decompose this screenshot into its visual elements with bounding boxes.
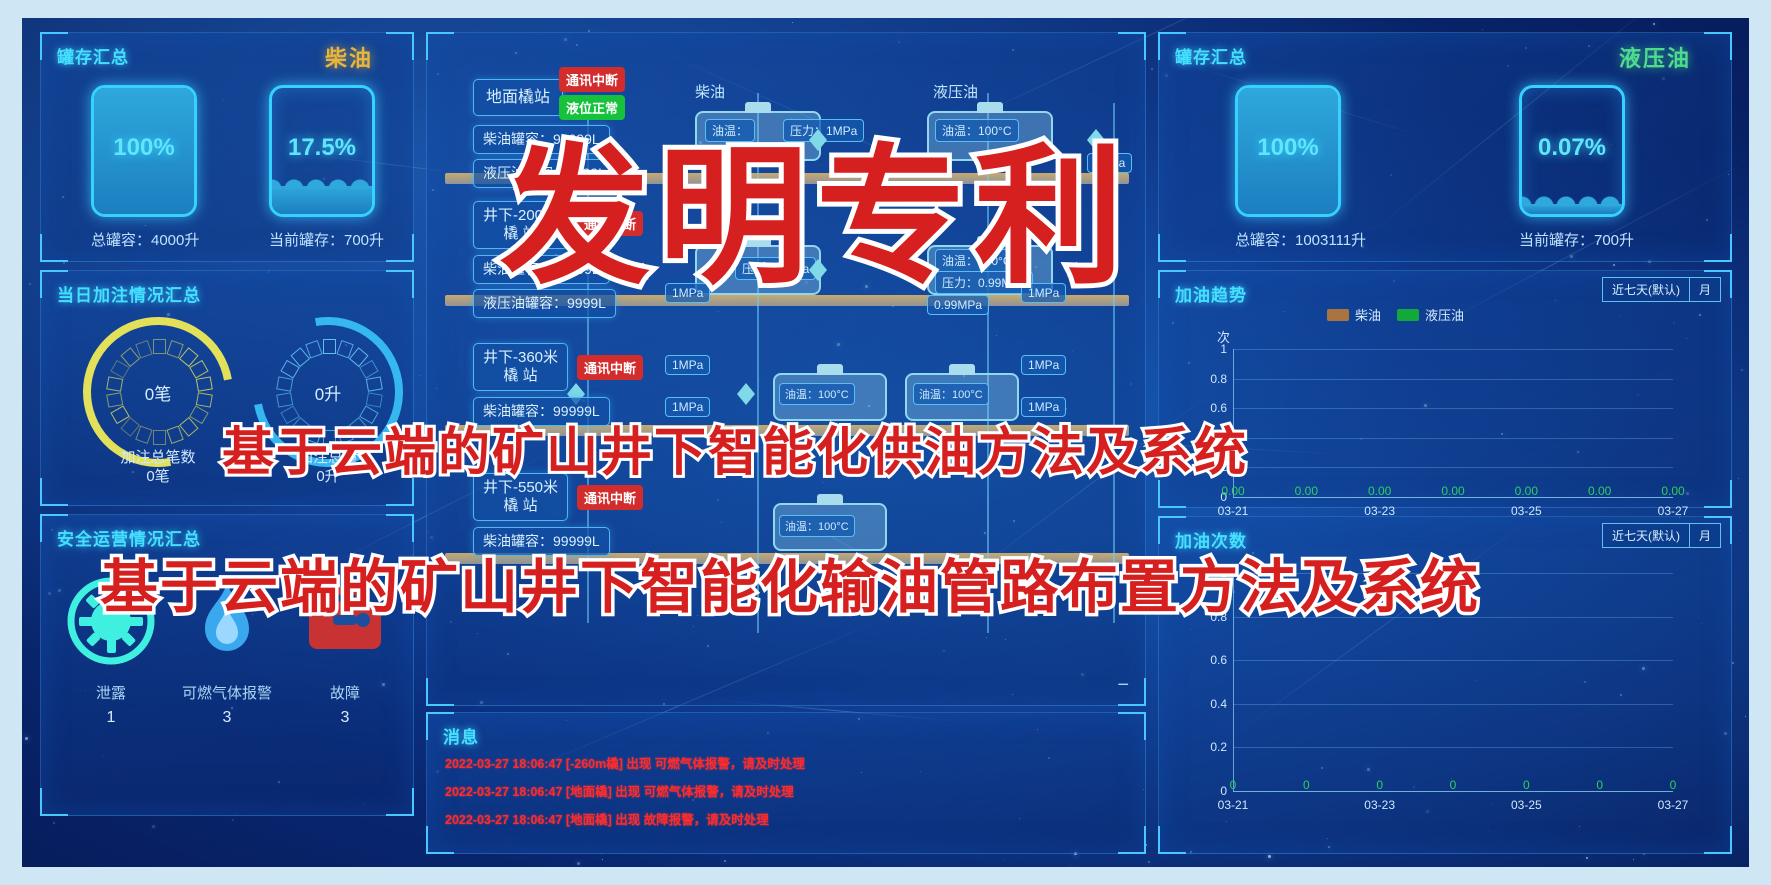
diesel-total-tank: 100% 总罐容：4000升 <box>91 85 199 250</box>
tank-percent: 17.5% <box>272 134 372 162</box>
tank-caption: 当前罐存：700升 <box>269 229 384 250</box>
station-ground-badge-comm: 通讯中断 <box>559 67 625 92</box>
reading-temp-5: 油温：100°C <box>913 383 989 405</box>
pressure-tag-4: 1MPa <box>665 355 710 375</box>
panel-diesel-summary: 罐存汇总 柴油 100% 总罐容：4000升 17.5% 当前罐存：700升 <box>40 32 414 262</box>
message-item: 2022-03-27 18:06:47 [地面橇] 出现 故障报警，请及时处理 <box>445 809 769 828</box>
tank-wave <box>1519 188 1625 206</box>
message-item: 2022-03-27 18:06:47 [-260m橇] 出现 可燃气体报警，请… <box>445 753 805 772</box>
safety-label: 泄露 <box>51 682 171 703</box>
tank-caption: 总罐容：4000升 <box>91 229 199 250</box>
hydraulic-total-tank: 100% 总罐容：1003111升 <box>1235 85 1366 250</box>
oil-type-hydraulic: 液压油 <box>1619 41 1691 73</box>
panel-messages: 消息 2022-03-27 18:06:47 [-260m橇] 出现 可燃气体报… <box>426 712 1146 854</box>
panel-title-refuel: 当日加注情况汇总 <box>57 281 201 306</box>
tank-fill <box>272 186 372 214</box>
watermark-patent-title: 发明专利 <box>500 96 1132 313</box>
safety-label: 可燃气体报警 <box>167 682 287 703</box>
safety-value: 3 <box>285 709 405 727</box>
tank-gauge: 100% <box>91 85 197 217</box>
panel-title-hydraulic: 罐存汇总 <box>1175 43 1247 68</box>
gauge-caption-line1: 加注总笔数 <box>68 449 248 468</box>
gauge-value: 0笔 <box>83 317 233 467</box>
tank-wave <box>269 171 375 189</box>
watermark-patent-2: 基于云端的矿山井下智能化输油管路布置方法及系统 <box>100 540 1480 624</box>
panel-title-diesel: 罐存汇总 <box>57 43 129 68</box>
tank-gauge: 100% <box>1235 85 1341 217</box>
reading-temp-4: 油温：100°C <box>779 383 855 405</box>
gauge-caption-line2: 0笔 <box>68 468 248 487</box>
gauge-refuel-count: 0笔 <box>83 317 233 467</box>
zoom-out-button[interactable]: − <box>1117 674 1129 697</box>
dashboard-board: 罐存汇总 柴油 100% 总罐容：4000升 17.5% 当前罐存：700升 <box>22 18 1749 867</box>
station-550m-badge-comm: 通讯中断 <box>577 485 643 510</box>
diesel-current-tank: 17.5% 当前罐存：700升 <box>269 85 384 250</box>
tank-percent: 0.07% <box>1522 134 1622 162</box>
station-360m-badge-comm: 通讯中断 <box>577 355 643 380</box>
tank-caption: 总罐容：1003111升 <box>1235 229 1366 250</box>
panel-hydraulic-summary: 罐存汇总 液压油 100% 总罐容：1003111升 0.07% 当前罐存：70… <box>1158 32 1732 262</box>
panel-title-messages: 消息 <box>443 723 479 748</box>
tank-caption: 当前罐存：700升 <box>1519 229 1634 250</box>
gauge-caption-count: 加注总笔数 0笔 <box>68 449 248 487</box>
reading-temp-6: 油温：100°C <box>779 515 855 537</box>
pressure-tag-5: 1MPa <box>1021 355 1066 375</box>
tank-percent: 100% <box>1238 134 1338 162</box>
dashboard-screen: 罐存汇总 柴油 100% 总罐容：4000升 17.5% 当前罐存：700升 <box>0 0 1771 885</box>
watermark-patent-1: 基于云端的矿山井下智能化供油方法及系统 <box>222 410 1248 485</box>
tank-gauge: 0.07% <box>1519 85 1625 217</box>
oil-type-diesel: 柴油 <box>325 41 373 73</box>
tank-percent: 100% <box>94 134 194 162</box>
safety-label: 故障 <box>285 682 405 703</box>
safety-value: 1 <box>51 709 171 727</box>
hydraulic-current-tank: 0.07% 当前罐存：700升 <box>1519 85 1634 250</box>
station-360m-label[interactable]: 井下-360米橇 站 <box>473 343 568 391</box>
message-item: 2022-03-27 18:06:47 [地面橇] 出现 可燃气体报警，请及时处… <box>445 781 794 800</box>
tank-gauge: 17.5% <box>269 85 375 217</box>
safety-value: 3 <box>167 709 287 727</box>
